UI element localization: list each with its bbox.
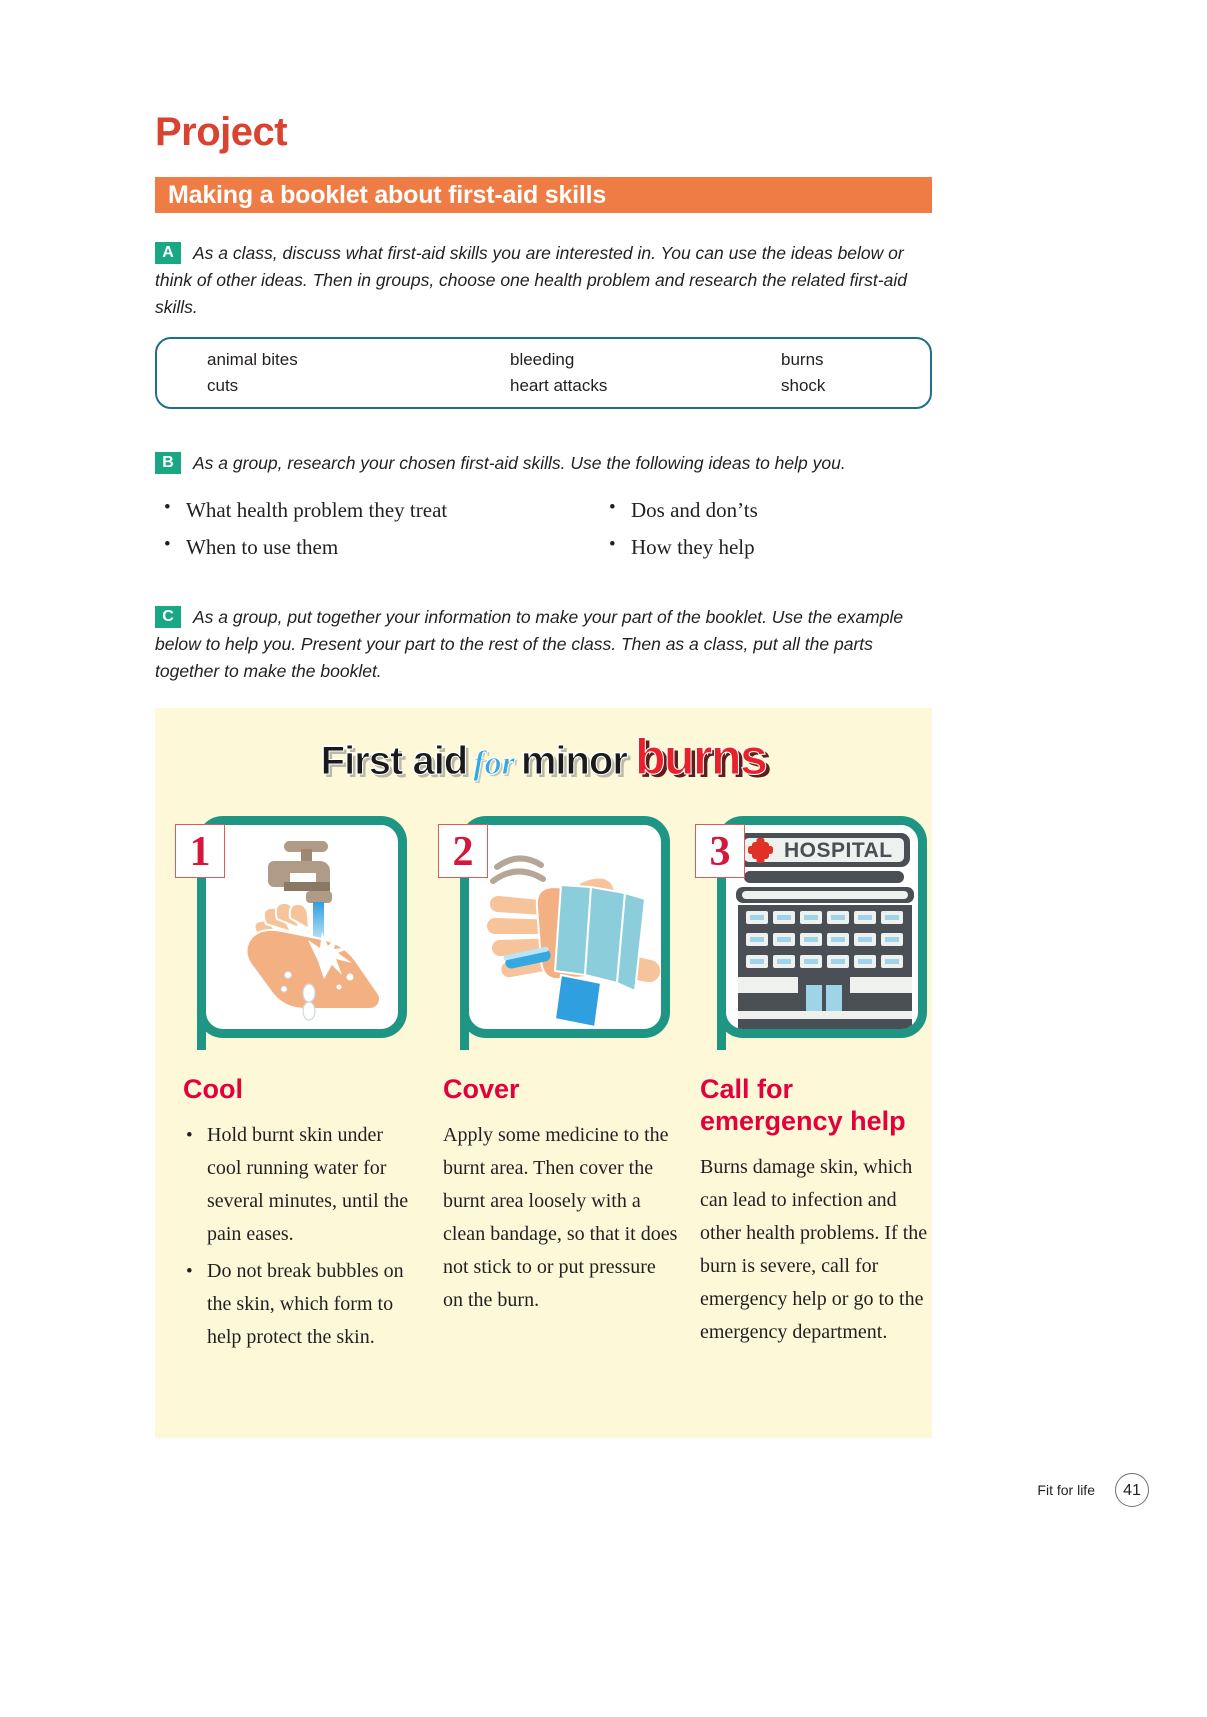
panel-2-stem	[460, 870, 469, 1050]
task-a-letter: A	[155, 242, 181, 264]
poster-title-part1: First aid	[321, 739, 468, 783]
task-c: CAs a group, put together your informati…	[155, 604, 937, 685]
poster-column-1: Cool Hold burnt skin under cool running …	[183, 1073, 418, 1358]
poster-panel-3: HOSPITAL	[695, 816, 927, 1038]
poster-panel-1: 1	[175, 816, 407, 1038]
section-banner-label: Making a booklet about first-aid skills	[168, 181, 606, 210]
task-b-letter: B	[155, 452, 181, 474]
hospital-building-icon: HOSPITAL	[726, 825, 918, 1029]
task-b-text: As a group, research your chosen first-a…	[193, 453, 846, 473]
idea-item: cuts	[207, 376, 238, 396]
panel-1-frame	[197, 816, 407, 1038]
poster-heading-1: Cool	[183, 1073, 418, 1105]
poster-title-part4: burns	[635, 729, 766, 785]
panel-2-frame	[460, 816, 670, 1038]
list-item: When to use them	[160, 535, 580, 560]
textbook-page: Project Making a booklet about first-aid…	[0, 0, 1207, 1717]
section-banner: Making a booklet about first-aid skills	[155, 177, 932, 213]
panel-3-frame: HOSPITAL	[717, 816, 927, 1038]
panel-3-number: 3	[695, 824, 745, 878]
research-ideas-right: Dos and don’ts How they help	[605, 498, 935, 572]
poster-list-1: Hold burnt skin under cool running water…	[183, 1119, 418, 1354]
panel-3-stem	[717, 870, 726, 1050]
task-a: AAs a class, discuss what first-aid skil…	[155, 240, 937, 321]
poster-heading-3: Call for emergency help	[700, 1073, 938, 1137]
poster-title-part3: minor	[521, 739, 627, 783]
idea-item: heart attacks	[510, 376, 607, 396]
task-a-text: As a class, discuss what first-aid skill…	[155, 243, 907, 317]
list-item: What health problem they treat	[160, 498, 580, 523]
hospital-sign-label: HOSPITAL	[784, 839, 893, 862]
idea-item: animal bites	[207, 350, 298, 370]
task-b: BAs a group, research your chosen first-…	[155, 450, 937, 477]
panel-2-number: 2	[438, 824, 488, 878]
poster-column-3: Call for emergency help Burns damage ski…	[700, 1073, 938, 1349]
research-ideas-left: What health problem they treat When to u…	[160, 498, 580, 572]
panel-1-stem	[197, 870, 206, 1050]
poster-paragraph-3: Burns damage skin, which can lead to inf…	[700, 1151, 938, 1349]
poster-title-part2: for	[473, 745, 515, 782]
bandaged-hand-icon	[469, 825, 661, 1029]
page-number: 41	[1115, 1473, 1149, 1507]
poster-heading-2: Cover	[443, 1073, 678, 1105]
idea-item: shock	[781, 376, 825, 396]
poster-paragraph-2: Apply some medicine to the burnt area. T…	[443, 1119, 678, 1317]
task-c-letter: C	[155, 606, 181, 628]
idea-item: burns	[781, 350, 824, 370]
tap-running-water-on-hand-icon	[206, 825, 398, 1029]
list-item: Hold burnt skin under cool running water…	[183, 1119, 418, 1251]
idea-box: animal bites cuts bleeding heart attacks…	[155, 337, 932, 409]
list-item: Do not break bubbles on the skin, which …	[183, 1255, 418, 1354]
poster-title: First aidforminorburns	[155, 728, 932, 786]
poster-column-2: Cover Apply some medicine to the burnt a…	[443, 1073, 678, 1317]
panel-1-number: 1	[175, 824, 225, 878]
task-c-text: As a group, put together your informatio…	[155, 607, 903, 681]
page-title: Project	[155, 110, 287, 155]
list-item: Dos and don’ts	[605, 498, 935, 523]
first-aid-poster: First aidforminorburns	[155, 708, 932, 1438]
list-item: How they help	[605, 535, 935, 560]
idea-item: bleeding	[510, 350, 574, 370]
footer-unit-label: Fit for life	[1037, 1482, 1095, 1498]
poster-panel-2: 2	[438, 816, 670, 1038]
